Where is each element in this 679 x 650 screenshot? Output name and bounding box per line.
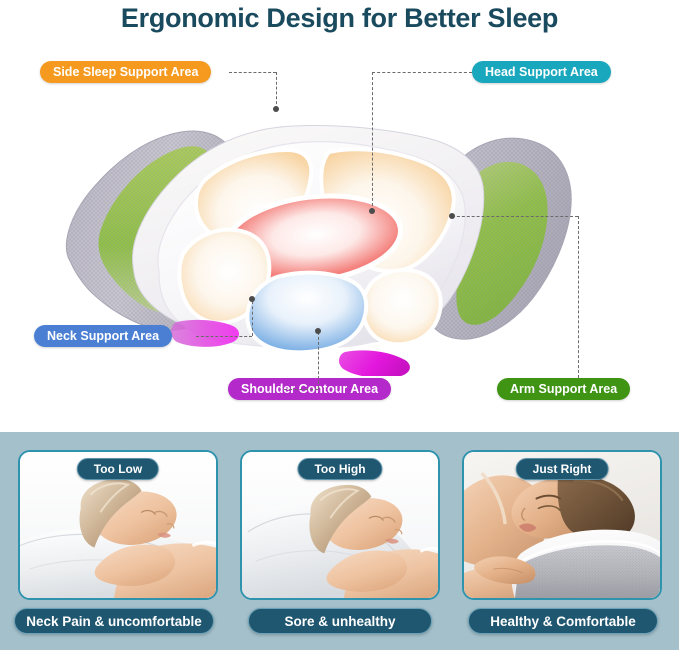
panel-caption-neck-pain: Neck Pain & uncomfortable — [14, 608, 214, 634]
callout-head-support-area[interactable]: Head Support Area — [472, 61, 611, 83]
callout-arm-support-area[interactable]: Arm Support Area — [497, 378, 630, 400]
callout-label: Side Sleep Support Area — [53, 65, 198, 79]
leader-line-neck — [196, 336, 252, 337]
infographic-page: Ergonomic Design for Better Sleep — [0, 0, 679, 650]
panel-badge-just-right: Just Right — [516, 458, 609, 480]
leader-line-arm — [452, 216, 578, 217]
panel-badge-too-high: Too High — [297, 458, 382, 480]
leader-line-side-sleep — [229, 72, 276, 73]
comparison-panel-too-high[interactable]: Too High — [240, 450, 440, 600]
page-title: Ergonomic Design for Better Sleep — [0, 0, 679, 36]
comparison-panels: Too Low — [0, 432, 679, 650]
panel-caption-sore-unhealthy: Sore & unhealthy — [248, 608, 432, 634]
leader-dot-shoulder — [315, 328, 321, 334]
pillow-diagram-stage: Side Sleep Support Area Head Support Are… — [0, 36, 679, 432]
leader-dot-neck — [249, 296, 255, 302]
leader-dot-head — [369, 208, 375, 214]
comparison-panel-just-right[interactable]: Just Right — [462, 450, 662, 600]
leader-line-neck-vertical — [252, 301, 253, 336]
leader-dot-side-sleep — [273, 106, 279, 112]
comparison-section: Too Low — [0, 432, 679, 650]
callout-label: Head Support Area — [485, 65, 598, 79]
leader-line-shoulder — [284, 389, 318, 390]
panel-frame: Just Right — [462, 450, 662, 600]
leader-line-head-vertical — [372, 72, 373, 211]
callout-label: Neck Support Area — [47, 329, 159, 343]
leader-line-shoulder-vertical — [318, 332, 319, 389]
callout-neck-support-area[interactable]: Neck Support Area — [34, 325, 172, 347]
panel-frame: Too Low — [18, 450, 218, 600]
panel-frame: Too High — [240, 450, 440, 600]
leader-line-head — [372, 72, 472, 73]
leader-line-arm-vertical — [578, 216, 579, 378]
comparison-panel-too-low[interactable]: Too Low — [18, 450, 218, 600]
callout-label: Arm Support Area — [510, 382, 617, 396]
panel-badge-too-low: Too Low — [77, 458, 159, 480]
leader-line-side-sleep-vertical — [276, 72, 277, 109]
callout-side-sleep-support-area[interactable]: Side Sleep Support Area — [40, 61, 211, 83]
panel-caption-healthy-comfortable: Healthy & Comfortable — [468, 608, 658, 634]
leader-dot-arm — [449, 213, 455, 219]
